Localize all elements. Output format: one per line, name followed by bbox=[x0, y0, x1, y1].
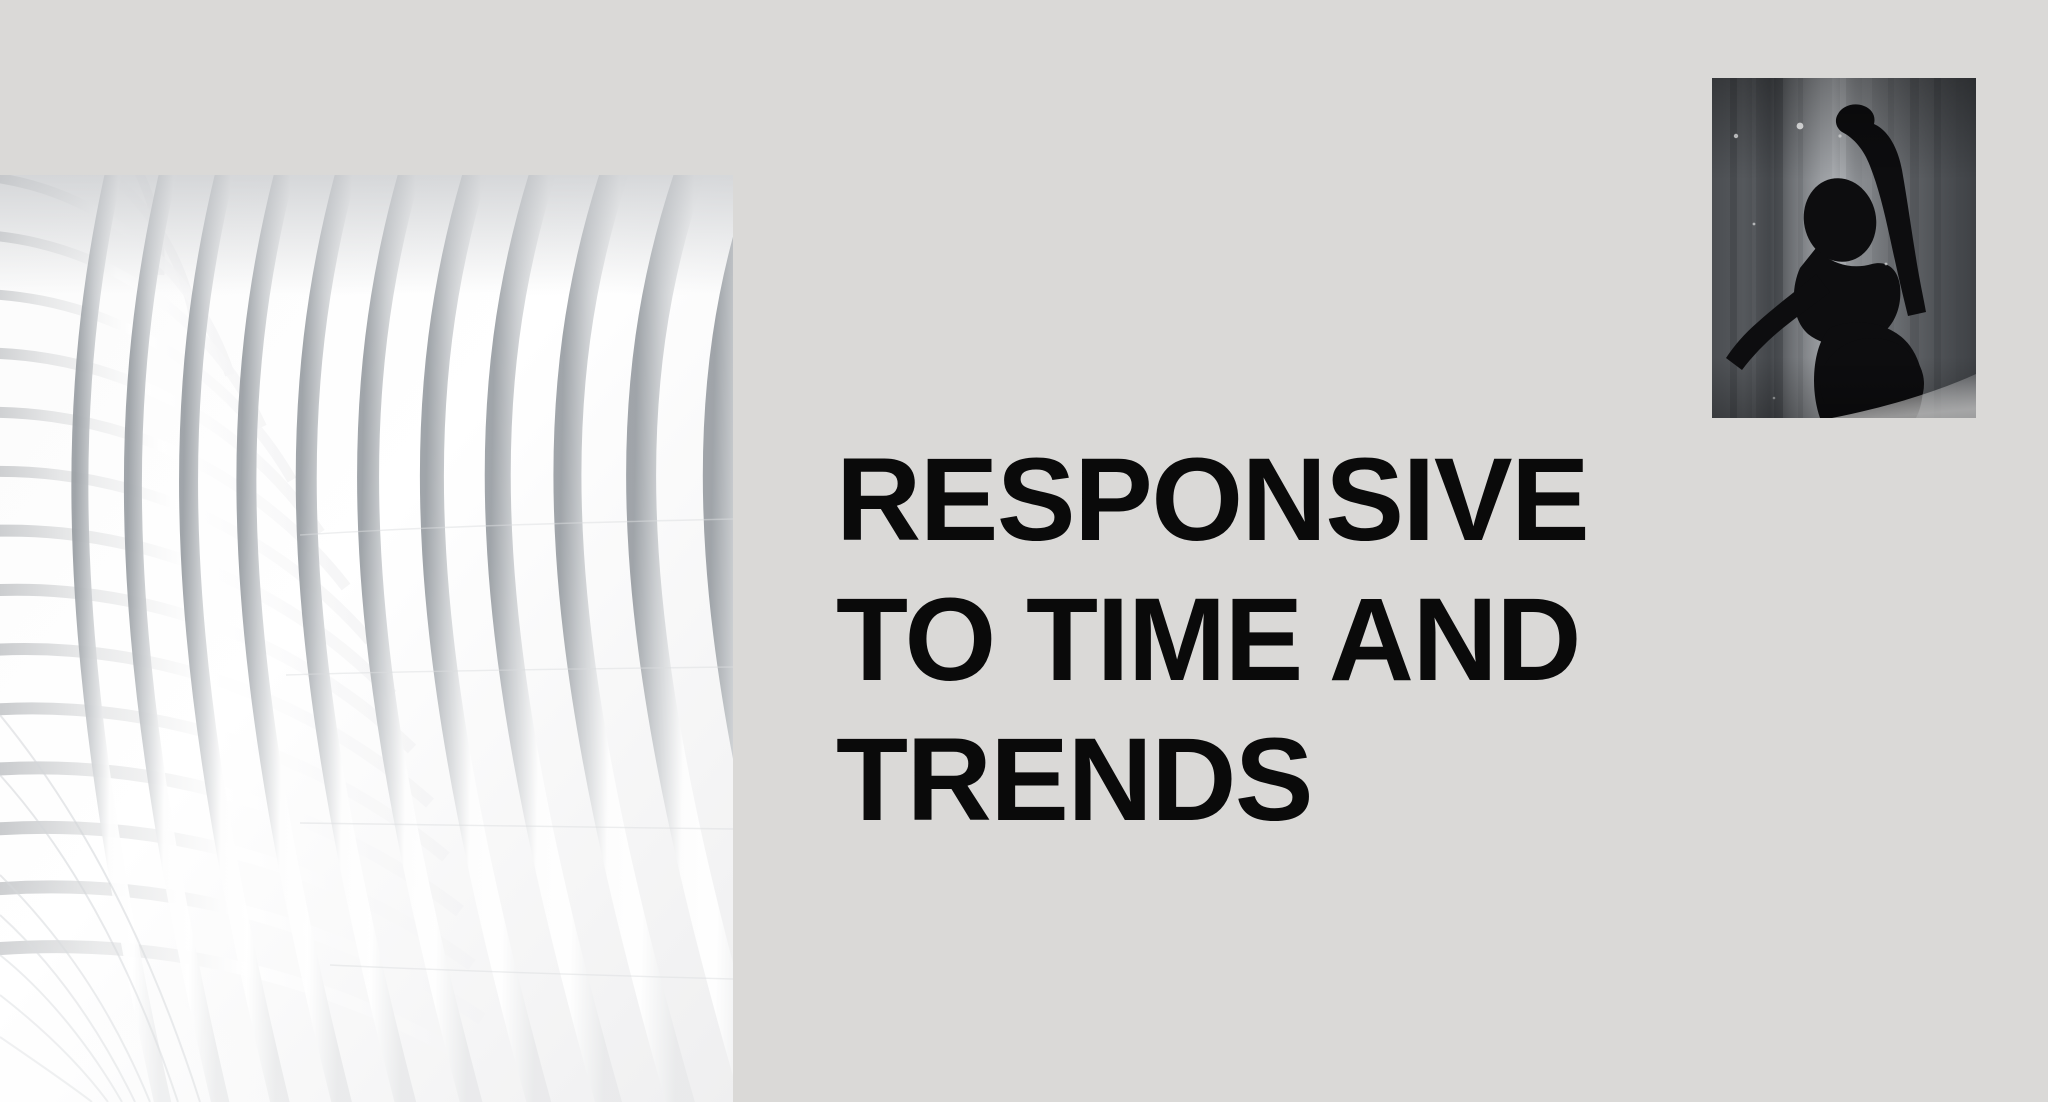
dancer-silhouette-photo bbox=[1712, 78, 1976, 418]
architectural-ribs-photo bbox=[0, 175, 733, 1102]
slide-canvas: RESPONSIVE TO TIME AND TRENDS bbox=[0, 0, 2048, 1102]
headline-line-1: RESPONSIVE bbox=[836, 430, 1596, 570]
headline-line-3: TRENDS bbox=[836, 710, 1596, 850]
dancer-silhouette-graphic bbox=[1712, 78, 1976, 418]
architectural-ribs-graphic bbox=[0, 175, 733, 1102]
page-title: RESPONSIVE TO TIME AND TRENDS bbox=[836, 430, 1596, 850]
headline-line-2: TO TIME AND bbox=[836, 570, 1596, 710]
